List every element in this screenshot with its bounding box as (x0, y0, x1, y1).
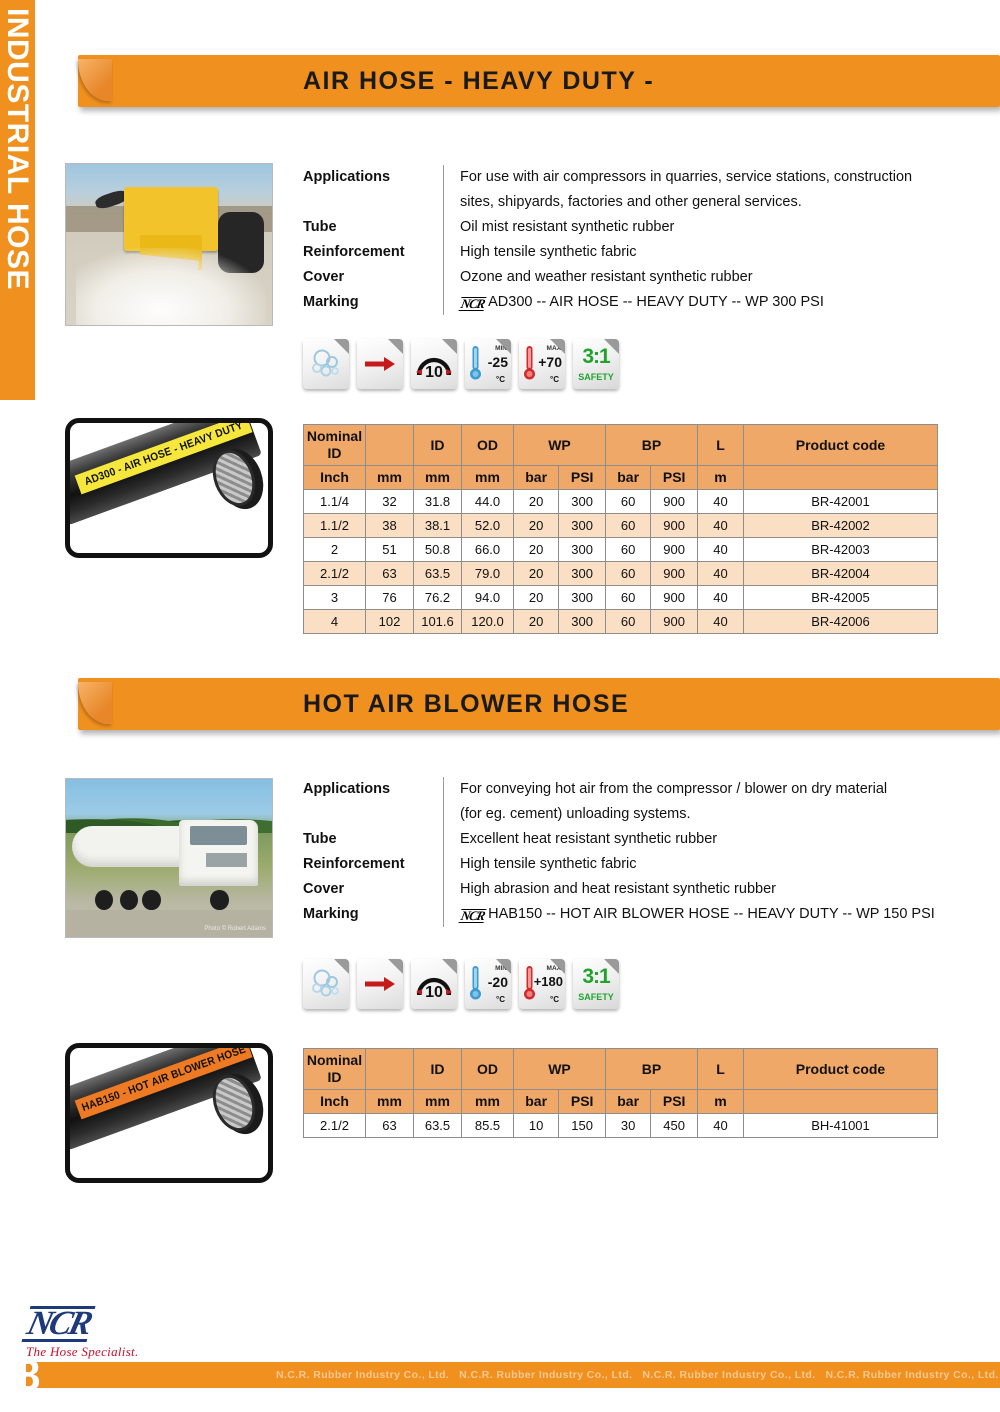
spec-row: Reinforcement High tensile synthetic fab… (303, 240, 963, 265)
spec-row: Reinforcement High tensile synthetic fab… (303, 852, 963, 877)
ncr-logo-icon: NCR (459, 909, 487, 923)
spec-value: NCRAD300 -- AIR HOSE -- HEAVY DUTY -- WP… (443, 290, 963, 315)
pictogram-row-air-hose: 10 MIN -25 °C MAX +70 °C 3:1 (303, 339, 619, 389)
cell-product-code: BR-42006 (744, 610, 938, 634)
flow-arrow-icon (357, 959, 403, 1009)
th-bp: BP (605, 425, 697, 466)
spec-value: NCRHAB150 -- HOT AIR BLOWER HOSE -- HEAV… (443, 902, 963, 927)
safety-factor-label: SAFETY (573, 992, 619, 1002)
table-cell: 60 (605, 586, 650, 610)
cell-product-code: BR-42004 (744, 562, 938, 586)
section-title: HOT AIR BLOWER HOSE (303, 690, 629, 719)
th-unit-bp-bar: bar (605, 1090, 650, 1114)
side-category-tab: INDUSTRIAL HOSE (0, 0, 35, 400)
page-number: 8 (16, 1354, 40, 1398)
table-cell: 51 (366, 538, 414, 562)
table-cell: 2.1/2 (304, 1114, 366, 1138)
spec-label: Applications (303, 165, 443, 190)
spec-value-line1: For use with air compressors in quarries… (460, 169, 912, 185)
table-cell: 38.1 (414, 514, 462, 538)
table-cell: 20 (514, 490, 559, 514)
th-unit-mm-od: mm (462, 1090, 514, 1114)
table-cell: 20 (514, 586, 559, 610)
max-temperature-value: +180 (534, 974, 563, 989)
photo-credit: Photo © Robert Adams (204, 926, 265, 932)
th-nominal-id-mm (366, 1049, 414, 1090)
table-cell: 79.0 (462, 562, 514, 586)
table-cell: 63.5 (414, 562, 462, 586)
table-cell: 450 (651, 1114, 698, 1138)
th-l: L (698, 425, 744, 466)
spec-value: Ozone and weather resistant synthetic ru… (443, 265, 963, 290)
air-hose-illustration: AD300 - AIR HOSE - HEAVY DUTY (65, 418, 273, 558)
spec-value: High tensile synthetic fabric (443, 240, 963, 265)
table-cell: 2.1/2 (304, 562, 366, 586)
safety-factor-label: SAFETY (573, 372, 619, 382)
table-cell: 300 (559, 562, 606, 586)
th-unit-inch: Inch (304, 466, 366, 490)
quarry-compactor-photo (65, 163, 273, 326)
table-row: 37676.294.0203006090040BR-42005 (304, 586, 938, 610)
max-temperature-caption: MAX (547, 345, 561, 352)
table-cell: 52.0 (462, 514, 514, 538)
spec-value: Excellent heat resistant synthetic rubbe… (443, 827, 963, 852)
catalog-page: INDUSTRIAL HOSE AIR HOSE - HEAVY DUTY - … (0, 0, 1000, 1412)
table-cell: 38 (366, 514, 414, 538)
table-cell: 900 (651, 562, 698, 586)
table-cell: 1.1/4 (304, 490, 366, 514)
th-od: OD (462, 425, 514, 466)
table-cell: 40 (698, 610, 744, 634)
safety-factor-icon: 3:1 SAFETY (573, 959, 619, 1009)
spec-label: Tube (303, 215, 443, 240)
section-title: AIR HOSE - HEAVY DUTY - (303, 67, 654, 96)
min-temperature-caption: MIN (495, 345, 507, 352)
table-cell: 44.0 (462, 490, 514, 514)
table-cell: 50.8 (414, 538, 462, 562)
th-product-code-spacer (744, 466, 938, 490)
bend-radius-icon: 10 (411, 959, 457, 1009)
air-bubbles-icon (303, 959, 349, 1009)
min-temperature-value: -20 (488, 974, 508, 990)
spec-row: Marking NCRAD300 -- AIR HOSE -- HEAVY DU… (303, 290, 963, 315)
hot-air-blower-hose-illustration: HAB150 - HOT AIR BLOWER HOSE (65, 1043, 273, 1183)
spec-value: High tensile synthetic fabric (443, 852, 963, 877)
th-unit-l-m: m (698, 466, 744, 490)
spec-label: Cover (303, 265, 443, 290)
table-group-header-row: Nominal ID ID OD WP BP L Product code (304, 1049, 938, 1090)
table-cell: 76 (366, 586, 414, 610)
table-cell: 300 (559, 514, 606, 538)
th-nominal-id: Nominal ID (304, 425, 366, 466)
spec-row: Marking NCRHAB150 -- HOT AIR BLOWER HOSE… (303, 902, 963, 927)
spec-value: For conveying hot air from the compresso… (443, 777, 963, 827)
cement-tanker-truck-photo: Photo © Robert Adams (65, 778, 273, 938)
table-cell: 60 (605, 562, 650, 586)
table-cell: 94.0 (462, 586, 514, 610)
th-unit-mm-nominal: mm (366, 466, 414, 490)
table-cell: 20 (514, 514, 559, 538)
table-cell: 900 (651, 538, 698, 562)
table-cell: 40 (698, 490, 744, 514)
table-group-header-row: Nominal ID ID OD WP BP L Product code (304, 425, 938, 466)
max-temperature-icon: MAX +70 °C (519, 339, 565, 389)
ncr-logo-mark: NCR (22, 1306, 96, 1342)
table-cell: 900 (651, 586, 698, 610)
table-cell: 1.1/2 (304, 514, 366, 538)
th-id: ID (414, 1049, 462, 1090)
min-temperature-unit: °C (496, 995, 505, 1004)
safety-factor-value: 3:1 (573, 965, 619, 989)
th-unit-mm-id: mm (414, 466, 462, 490)
table-unit-header-row: Inch mm mm mm bar PSI bar PSI m (304, 1090, 938, 1114)
th-unit-mm-od: mm (462, 466, 514, 490)
spec-value: High abrasion and heat resistant synthet… (443, 877, 963, 902)
table-cell: 63 (366, 562, 414, 586)
spec-row: Applications For conveying hot air from … (303, 777, 963, 827)
max-temperature-unit: °C (550, 375, 559, 384)
table-cell: 120.0 (462, 610, 514, 634)
table-cell: 60 (605, 610, 650, 634)
table-cell: 63 (366, 1114, 414, 1138)
table-cell: 900 (651, 514, 698, 538)
bend-radius-value: 10 (411, 364, 457, 382)
banner-fold-corner (78, 682, 112, 724)
table-cell: 20 (514, 538, 559, 562)
table-cell: 40 (698, 538, 744, 562)
table-cell: 900 (651, 610, 698, 634)
table-body: 2.1/26363.585.5101503045040BH-41001 (304, 1114, 938, 1138)
marking-text: AD300 -- AIR HOSE -- HEAVY DUTY -- WP 30… (488, 294, 824, 310)
th-nominal-id-mm (366, 425, 414, 466)
th-bp: BP (605, 1049, 697, 1090)
cell-product-code: BR-42002 (744, 514, 938, 538)
spec-label: Marking (303, 902, 443, 927)
banner-fold-corner (78, 59, 112, 101)
table-cell: 60 (605, 514, 650, 538)
table-cell: 150 (559, 1114, 606, 1138)
spec-row: Cover High abrasion and heat resistant s… (303, 877, 963, 902)
spec-block-air-hose: Applications For use with air compressor… (303, 165, 963, 315)
cell-product-code: BR-42003 (744, 538, 938, 562)
bend-radius-value: 10 (411, 984, 457, 1002)
table-cell: 900 (651, 490, 698, 514)
th-unit-wp-psi: PSI (559, 1090, 606, 1114)
table-cell: 85.5 (462, 1114, 514, 1138)
side-category-label: INDUSTRIAL HOSE (0, 0, 35, 400)
th-wp: WP (514, 1049, 606, 1090)
cell-product-code: BH-41001 (744, 1114, 938, 1138)
spec-row: Tube Oil mist resistant synthetic rubber (303, 215, 963, 240)
cell-product-code: BR-42005 (744, 586, 938, 610)
min-temperature-unit: °C (496, 375, 505, 384)
table-cell: 40 (698, 586, 744, 610)
th-od: OD (462, 1049, 514, 1090)
spec-label: Marking (303, 290, 443, 315)
spec-value-line2: (for eg. cement) unloading systems. (460, 802, 963, 827)
safety-factor-icon: 3:1 SAFETY (573, 339, 619, 389)
table-cell: 300 (559, 490, 606, 514)
min-temperature-caption: MIN (495, 965, 507, 972)
spec-value-line2: sites, shipyards, factories and other ge… (460, 190, 963, 215)
th-unit-mm-nominal: mm (366, 1090, 414, 1114)
th-unit-bp-bar: bar (605, 466, 650, 490)
spec-value: For use with air compressors in quarries… (443, 165, 963, 215)
spec-value-line1: For conveying hot air from the compresso… (460, 781, 887, 797)
th-unit-l-m: m (698, 1090, 744, 1114)
spec-label: Applications (303, 777, 443, 802)
table-cell: 40 (698, 562, 744, 586)
th-wp: WP (514, 425, 606, 466)
table-cell: 2 (304, 538, 366, 562)
table-cell: 300 (559, 586, 606, 610)
spec-label: Reinforcement (303, 240, 443, 265)
table-cell: 40 (698, 1114, 744, 1138)
pictogram-row-hot-air-blower: 10 MIN -20 °C MAX +180 °C 3: (303, 959, 619, 1009)
company-logo: NCR The Hose Specialist. (26, 1306, 139, 1360)
th-product-code: Product code (744, 1049, 938, 1090)
th-unit-mm-id: mm (414, 1090, 462, 1114)
th-id: ID (414, 425, 462, 466)
table-cell: 101.6 (414, 610, 462, 634)
th-unit-wp-bar: bar (514, 1090, 559, 1114)
safety-factor-value: 3:1 (573, 345, 619, 369)
table-cell: 30 (605, 1114, 650, 1138)
min-temperature-icon: MIN -20 °C (465, 959, 511, 1009)
th-unit-wp-bar: bar (514, 466, 559, 490)
table-cell: 300 (559, 538, 606, 562)
spec-row: Applications For use with air compressor… (303, 165, 963, 215)
spec-value: Oil mist resistant synthetic rubber (443, 215, 963, 240)
spec-label: Reinforcement (303, 852, 443, 877)
min-temperature-value: -25 (488, 354, 508, 370)
table-cell: 40 (698, 514, 744, 538)
th-product-code-spacer (744, 1090, 938, 1114)
footer-company-text: N.C.R. Rubber Industry Co., Ltd. N.C.R. … (26, 1369, 1000, 1381)
spec-row: Tube Excellent heat resistant synthetic … (303, 827, 963, 852)
table-cell: 3 (304, 586, 366, 610)
max-temperature-value: +70 (538, 354, 562, 370)
table-cell: 66.0 (462, 538, 514, 562)
bend-radius-icon: 10 (411, 339, 457, 389)
spec-row: Cover Ozone and weather resistant synthe… (303, 265, 963, 290)
flow-arrow-icon (357, 339, 403, 389)
table-cell: 60 (605, 490, 650, 514)
table-cell: 102 (366, 610, 414, 634)
spec-table-hot-air-blower: Nominal ID ID OD WP BP L Product code In… (303, 1048, 938, 1138)
table-row: 2.1/26363.579.0203006090040BR-42004 (304, 562, 938, 586)
table-unit-header-row: Inch mm mm mm bar PSI bar PSI m (304, 466, 938, 490)
section-banner-air-hose: AIR HOSE - HEAVY DUTY - (78, 55, 1000, 107)
table-body: 1.1/43231.844.0203006090040BR-420011.1/2… (304, 490, 938, 634)
table-row: 4102101.6120.0203006090040BR-42006 (304, 610, 938, 634)
th-l: L (698, 1049, 744, 1090)
table-cell: 10 (514, 1114, 559, 1138)
spec-label: Tube (303, 827, 443, 852)
max-temperature-caption: MAX (547, 965, 561, 972)
table-cell: 76.2 (414, 586, 462, 610)
table-cell: 63.5 (414, 1114, 462, 1138)
th-nominal-id: Nominal ID (304, 1049, 366, 1090)
table-cell: 31.8 (414, 490, 462, 514)
company-tagline: The Hose Specialist. (26, 1344, 139, 1360)
ncr-logo-icon: NCR (459, 297, 487, 311)
spec-table-air-hose: Nominal ID ID OD WP BP L Product code In… (303, 424, 938, 634)
cell-product-code: BR-42001 (744, 490, 938, 514)
table-row: 1.1/23838.152.0203006090040BR-42002 (304, 514, 938, 538)
table-cell: 20 (514, 610, 559, 634)
table-row: 1.1/43231.844.0203006090040BR-42001 (304, 490, 938, 514)
min-temperature-icon: MIN -25 °C (465, 339, 511, 389)
table-cell: 20 (514, 562, 559, 586)
section-banner-hot-air-blower: HOT AIR BLOWER HOSE (78, 678, 1000, 730)
max-temperature-icon: MAX +180 °C (519, 959, 565, 1009)
th-product-code: Product code (744, 425, 938, 466)
marking-text: HAB150 -- HOT AIR BLOWER HOSE -- HEAVY D… (488, 906, 935, 922)
th-unit-bp-psi: PSI (651, 466, 698, 490)
spec-label: Cover (303, 877, 443, 902)
air-bubbles-icon (303, 339, 349, 389)
footer-bar: N.C.R. Rubber Industry Co., Ltd. N.C.R. … (26, 1362, 1000, 1388)
table-row: 2.1/26363.585.5101503045040BH-41001 (304, 1114, 938, 1138)
table-row: 25150.866.0203006090040BR-42003 (304, 538, 938, 562)
th-unit-wp-psi: PSI (559, 466, 606, 490)
spec-block-hot-air-blower: Applications For conveying hot air from … (303, 777, 963, 927)
table-cell: 60 (605, 538, 650, 562)
max-temperature-unit: °C (550, 995, 559, 1004)
th-unit-inch: Inch (304, 1090, 366, 1114)
table-cell: 4 (304, 610, 366, 634)
table-cell: 32 (366, 490, 414, 514)
th-unit-bp-psi: PSI (651, 1090, 698, 1114)
table-cell: 300 (559, 610, 606, 634)
